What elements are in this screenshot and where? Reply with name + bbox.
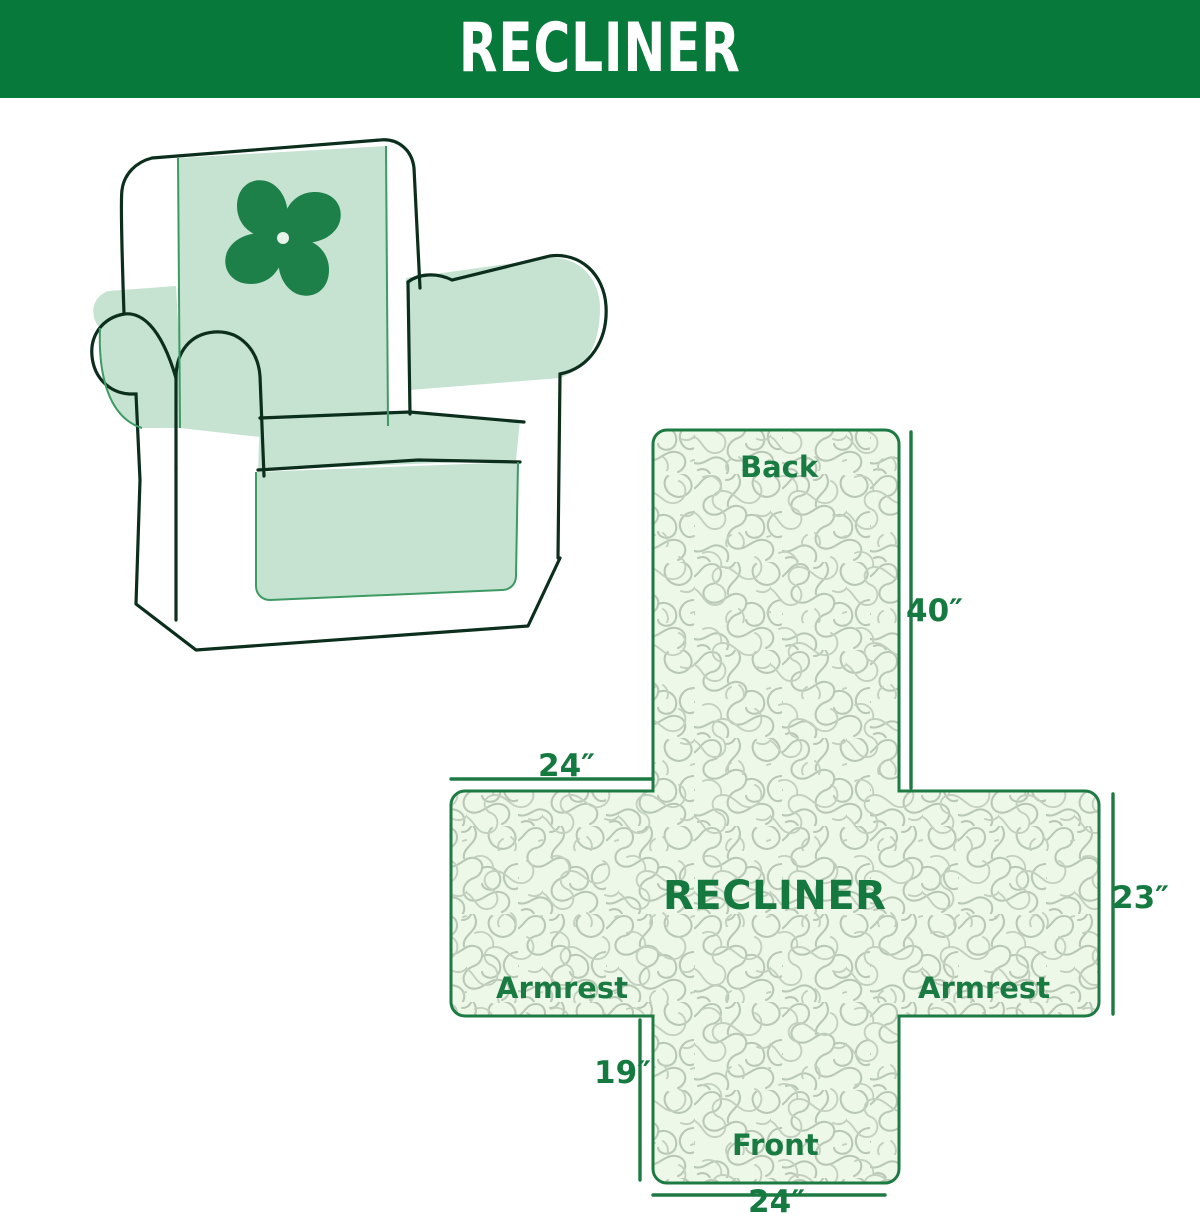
panel-label-back: Back [740, 450, 818, 484]
page-title: RECLINER [459, 15, 741, 83]
panel-label-armrest-right: Armrest [918, 971, 1050, 1005]
dimension-label-front-length: 19″ [594, 1055, 651, 1091]
dimension-label-back-length: 40″ [906, 593, 963, 629]
header-bar: RECLINER [0, 0, 1200, 98]
content-stage: Back Armrest Armrest Front RECLINER 40″ … [0, 98, 1200, 1200]
panel-label-front: Front [732, 1128, 819, 1162]
diagram-center-label: RECLINER [663, 873, 886, 919]
chair-backrest-panel [178, 146, 388, 446]
quilt-stitch-pattern [430, 418, 1200, 1198]
dimension-label-center-height: 23″ [1112, 880, 1169, 916]
dimension-label-front-width: 24″ [748, 1184, 805, 1220]
chair-right-inner-arm-outline [408, 282, 410, 414]
pinwheel-fan-icon [225, 180, 340, 295]
dimension-label-armrest-width: 24″ [538, 748, 595, 784]
panel-label-armrest-left: Armrest [496, 971, 628, 1005]
